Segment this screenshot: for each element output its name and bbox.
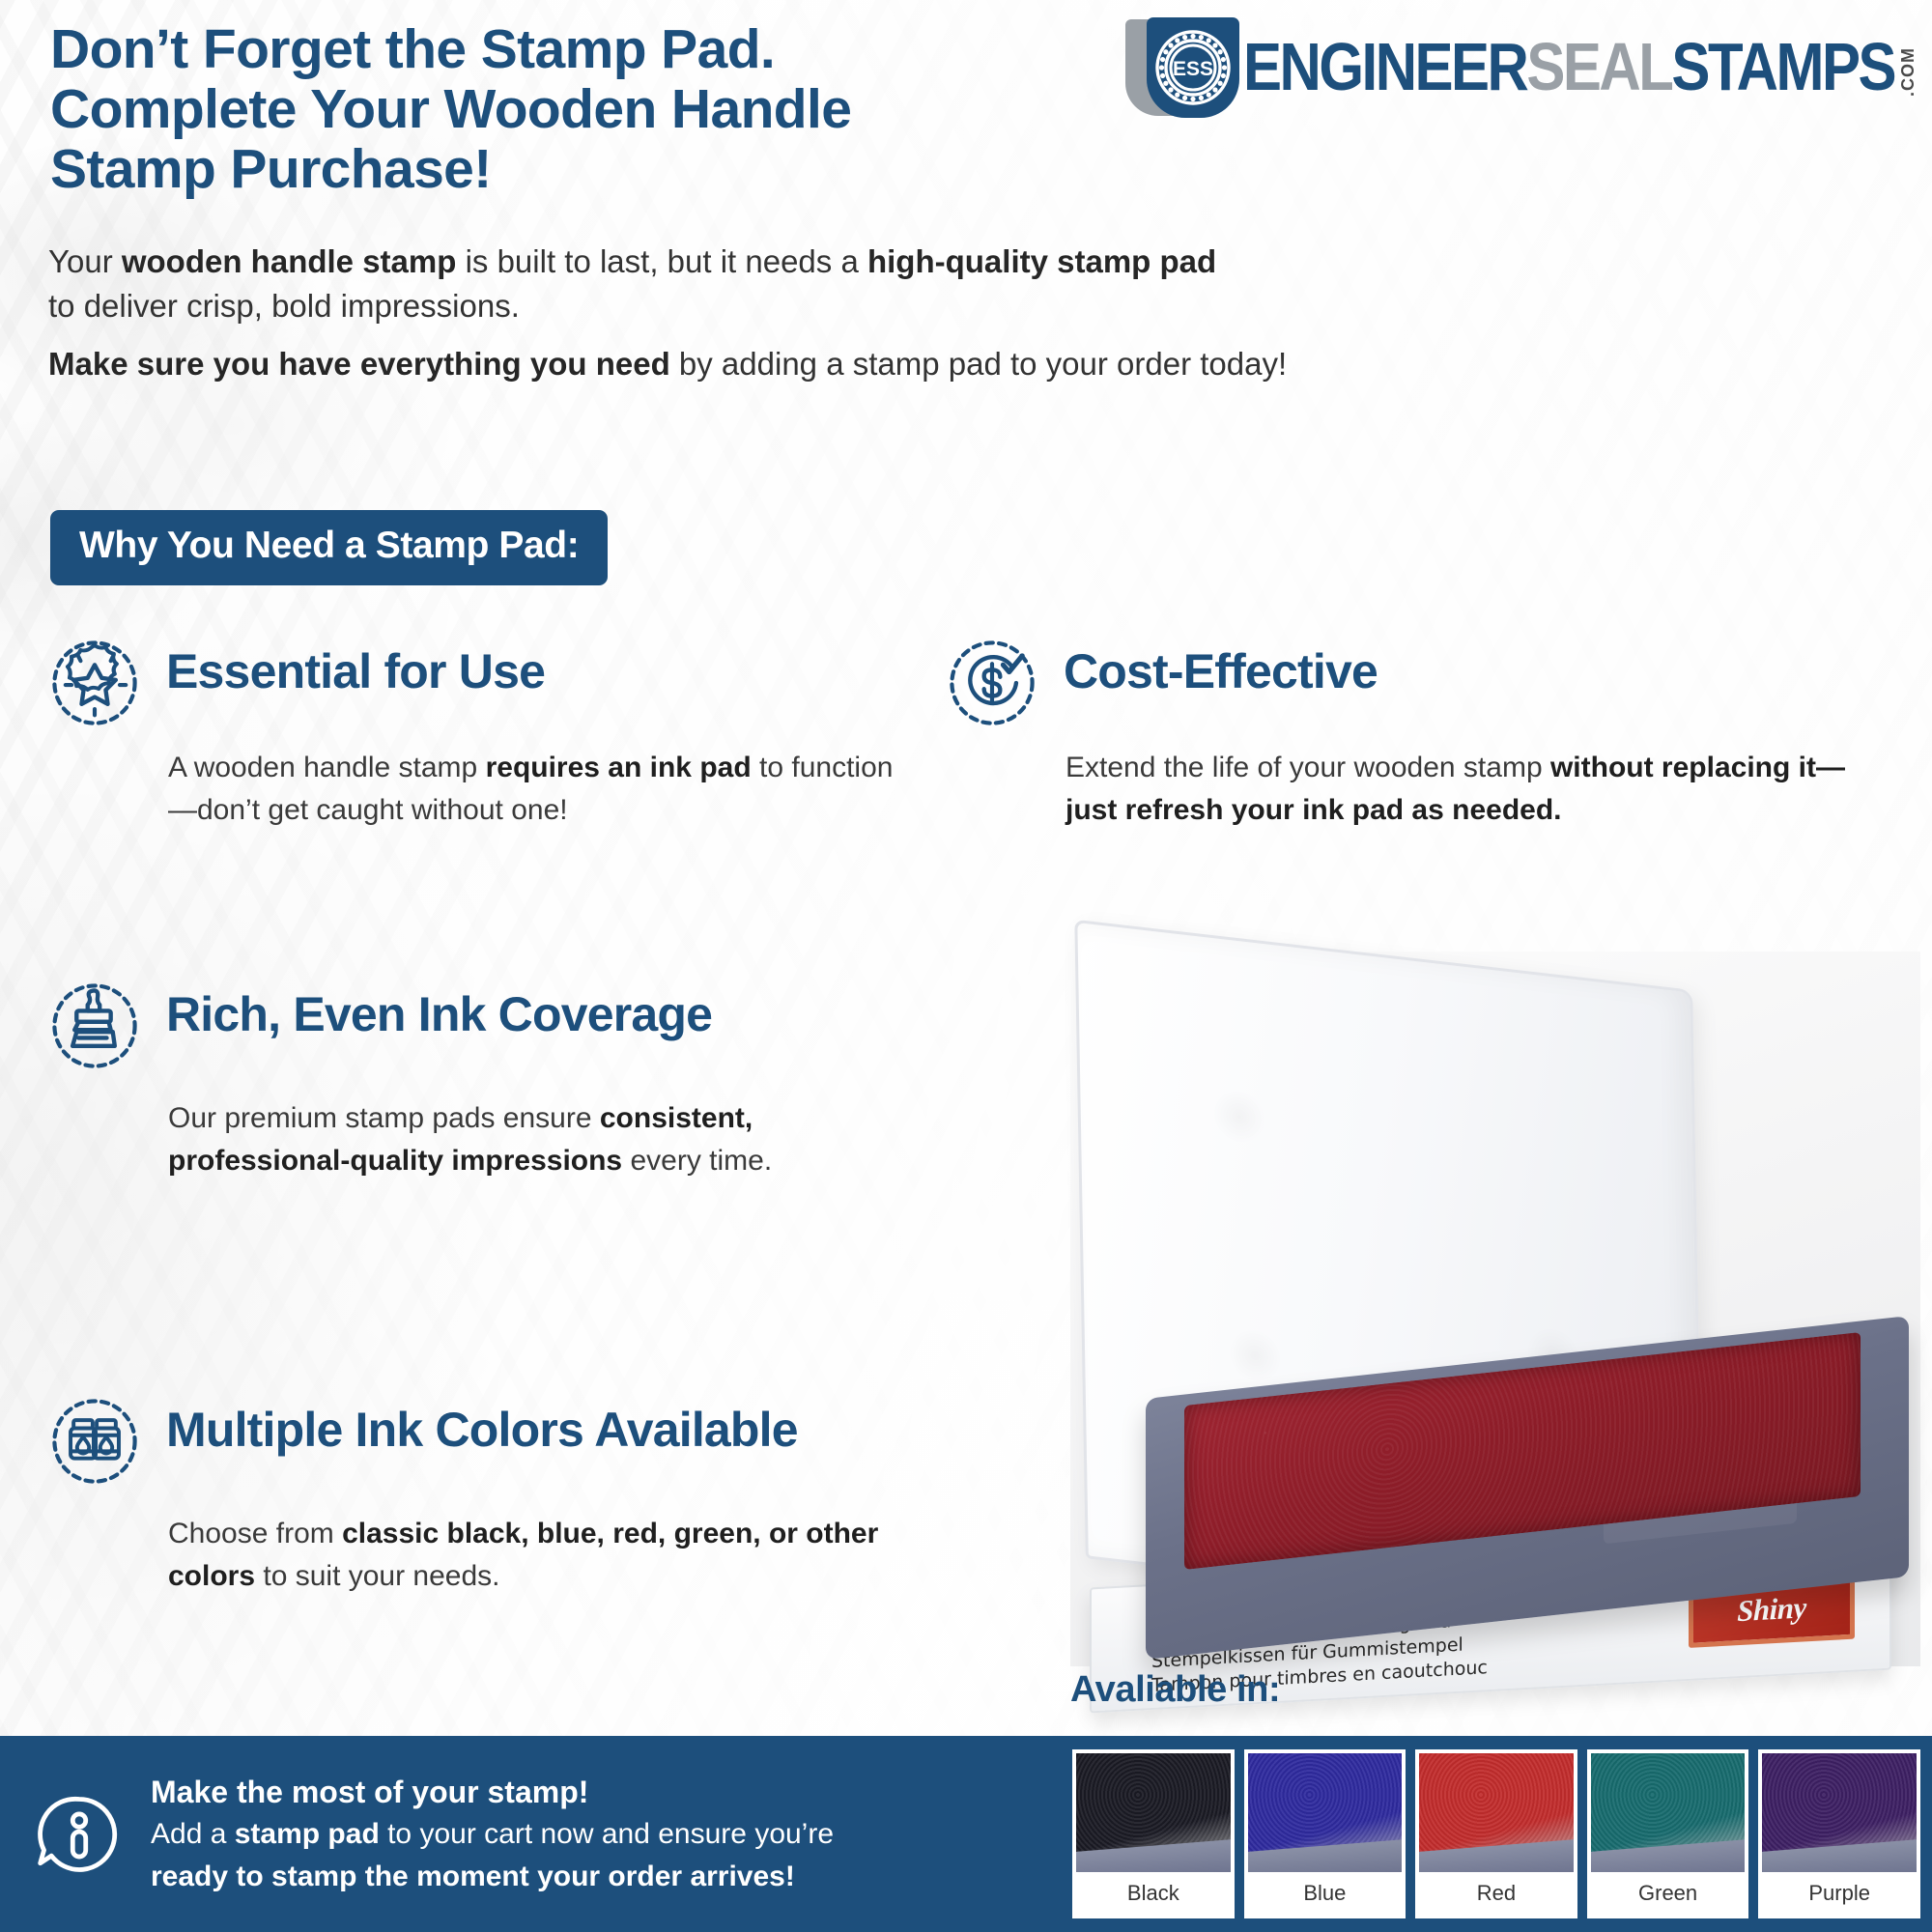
feature-body: Choose from classic black, blue, red, gr…	[168, 1513, 941, 1598]
intro-text-2: is built to last, but it needs a	[456, 243, 867, 279]
intro-text-1: Your	[48, 243, 122, 279]
color-swatch-strip: Black Blue Red Green Purple	[1061, 1736, 1932, 1932]
swatch-image	[1762, 1753, 1917, 1872]
feature-title: Cost-Effective	[1064, 633, 1378, 698]
swatch-label: Blue	[1248, 1872, 1403, 1915]
feature-body-text-a: Extend the life of your wooden stamp	[1065, 752, 1550, 783]
feature-title: Rich, Even Ink Coverage	[166, 976, 765, 1041]
swatch-green[interactable]: Green	[1587, 1749, 1749, 1918]
intro-paragraph: Your wooden handle stamp is built to las…	[48, 240, 1420, 386]
feature-header: Multiple Ink Colors Available	[44, 1391, 1039, 1492]
feature-header: Cost-Effective	[942, 633, 1908, 733]
feature-cost-effective: Cost-Effective Extend the life of your w…	[942, 633, 1908, 832]
swatch-black[interactable]: Black	[1072, 1749, 1235, 1918]
ess-monogram: ESS	[1173, 58, 1213, 80]
feature-header: Essential for Use	[44, 633, 952, 733]
cta-line-2-bold: stamp pad	[235, 1818, 380, 1850]
intro-line-3: Make sure you have everything you need b…	[48, 342, 1420, 386]
feature-body-text-a: A wooden handle stamp	[168, 752, 486, 783]
feature-title: Essential for Use	[166, 633, 545, 698]
swatch-image	[1076, 1753, 1231, 1872]
feature-body-bold: requires an ink pad	[486, 752, 752, 783]
swatch-label: Black	[1076, 1872, 1231, 1915]
brand-wordmark: ENGINEERSEALSTAMPS	[1243, 34, 1894, 101]
feature-body: Extend the life of your wooden stamp wit…	[1065, 747, 1867, 832]
cta-line-2: Add a stamp pad to your cart now and ens…	[151, 1813, 834, 1856]
intro-bold-high-quality-stamp-pad: high-quality stamp pad	[867, 243, 1216, 279]
intro-text-3: to deliver crisp, bold impressions.	[48, 288, 520, 324]
brand-logo[interactable]: ESS ENGINEERSEALSTAMPS .COM	[1125, 21, 1918, 114]
feature-title: Multiple Ink Colors Available	[166, 1391, 862, 1457]
swatch-red[interactable]: Red	[1415, 1749, 1577, 1918]
page-title-line-1: Don’t Forget the Stamp Pad.	[50, 19, 1238, 79]
info-bubble-icon	[33, 1788, 126, 1881]
section-banner-why-you-need-a-stamp-pad: Why You Need a Stamp Pad:	[50, 510, 608, 585]
cta-line-2-c: to your cart now and ensure you’re	[380, 1818, 834, 1850]
brand-word-seal: SEAL	[1526, 30, 1671, 105]
feature-multiple-ink-colors: Multiple Ink Colors Available Choose fro…	[44, 1391, 1039, 1598]
feature-rich-even-ink-coverage: Rich, Even Ink Coverage Our premium stam…	[44, 976, 914, 1182]
feature-header: Rich, Even Ink Coverage	[44, 976, 914, 1076]
intro-text-4: by adding a stamp pad to your order toda…	[670, 346, 1287, 382]
feature-essential-for-use: Essential for Use A wooden handle stamp …	[44, 633, 952, 832]
infographic-page: Don’t Forget the Stamp Pad. Complete You…	[0, 0, 1932, 1932]
feature-body: Our premium stamp pads ensure consistent…	[168, 1097, 844, 1182]
cta-line-1: Make the most of your stamp!	[151, 1771, 834, 1813]
product-photo-stamp-pad: S-0 Stamp pad for rubber stamps Almohadi…	[1070, 952, 1920, 1666]
feature-body-text-a: Our premium stamp pads ensure	[168, 1102, 600, 1134]
swatch-label: Green	[1591, 1872, 1746, 1915]
swatch-image	[1591, 1753, 1746, 1872]
ess-shield-icon: ESS	[1125, 17, 1241, 118]
badge-dollar-check-icon	[942, 633, 1042, 733]
cta-line-2-a: Add a	[151, 1818, 235, 1850]
available-in-title: Avaliable in:	[1070, 1669, 1280, 1711]
swatch-purple[interactable]: Purple	[1758, 1749, 1920, 1918]
brand-tld: .COM	[1898, 39, 1918, 97]
intro-bold-wooden-handle-stamp: wooden handle stamp	[122, 243, 457, 279]
feature-body-text-c: every time.	[622, 1145, 772, 1177]
cta-bar: Make the most of your stamp! Add a stamp…	[0, 1736, 1061, 1932]
feature-body: A wooden handle stamp requires an ink pa…	[168, 747, 902, 832]
intro-bold-make-sure: Make sure you have everything you need	[48, 346, 670, 382]
swatch-image	[1248, 1753, 1403, 1872]
feature-body-text-a: Choose from	[168, 1518, 342, 1549]
cta-line-3: ready to stamp the moment your order arr…	[151, 1856, 834, 1898]
swatch-image	[1419, 1753, 1574, 1872]
brand-word-engineer: ENGINEER	[1243, 30, 1526, 105]
cta-text: Make the most of your stamp! Add a stamp…	[151, 1771, 834, 1898]
feature-body-text-c: to suit your needs.	[255, 1560, 499, 1592]
swatch-blue[interactable]: Blue	[1244, 1749, 1406, 1918]
swatch-label: Red	[1419, 1872, 1574, 1915]
page-title: Don’t Forget the Stamp Pad. Complete You…	[50, 19, 1238, 199]
badge-ink-bottles-icon	[44, 1391, 145, 1492]
badge-star-icon	[44, 633, 145, 733]
page-title-line-3: Stamp Purchase!	[50, 139, 1238, 199]
page-title-line-2: Complete Your Wooden Handle	[50, 79, 1238, 139]
cta-line-3-bold: ready to stamp the moment your order arr…	[151, 1861, 795, 1892]
swatch-label: Purple	[1762, 1872, 1917, 1915]
badge-rubber-stamp-icon	[44, 976, 145, 1076]
brand-word-stamps: STAMPS	[1671, 30, 1894, 105]
